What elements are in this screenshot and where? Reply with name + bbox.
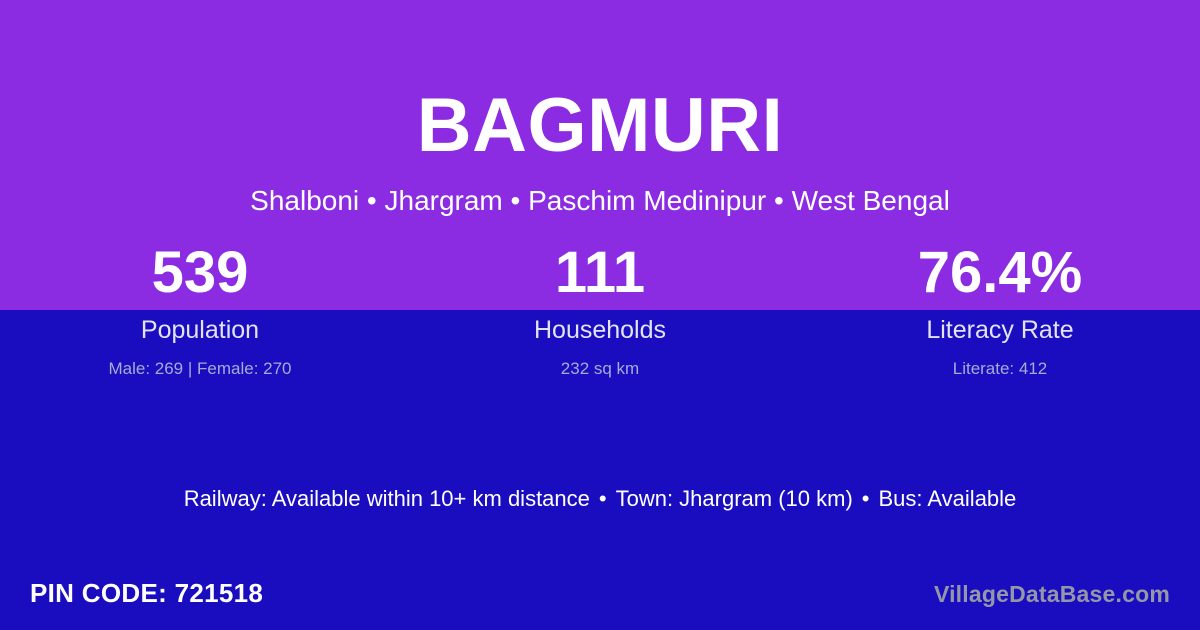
- pin-code: PIN CODE: 721518: [30, 578, 263, 609]
- facility-railway: Railway: Available within 10+ km distanc…: [184, 486, 590, 511]
- stats-row: 539 Population Male: 269 | Female: 270 1…: [0, 243, 1200, 379]
- facility-bus: Bus: Available: [878, 486, 1016, 511]
- site-brand: VillageDataBase.com: [934, 581, 1170, 609]
- village-info-card: BAGMURI Shalboni • Jhargram • Paschim Me…: [0, 0, 1200, 630]
- facility-separator-icon: •: [853, 486, 879, 512]
- card-header: BAGMURI Shalboni • Jhargram • Paschim Me…: [0, 0, 1200, 217]
- literacy-rate-value: 76.4%: [800, 243, 1200, 310]
- households-label: Households: [400, 310, 800, 345]
- population-label: Population: [0, 310, 400, 345]
- stat-literacy: 76.4% Literacy Rate Literate: 412: [800, 243, 1200, 379]
- population-value: 539: [0, 243, 400, 310]
- literacy-rate-label: Literacy Rate: [800, 310, 1200, 345]
- facility-town: Town: Jhargram (10 km): [616, 486, 853, 511]
- stat-households: 111 Households 232 sq km: [400, 243, 800, 379]
- population-breakdown: Male: 269 | Female: 270: [0, 345, 400, 379]
- area-value: 232 sq km: [400, 345, 800, 379]
- literate-count: Literate: 412: [800, 345, 1200, 379]
- stat-population: 539 Population Male: 269 | Female: 270: [0, 243, 400, 379]
- card-footer: PIN CODE: 721518 VillageDataBase.com: [0, 575, 1200, 630]
- breadcrumb: Shalboni • Jhargram • Paschim Medinipur …: [0, 164, 1200, 217]
- facilities-line: Railway: Available within 10+ km distanc…: [0, 486, 1200, 512]
- facility-separator-icon: •: [590, 486, 616, 512]
- page-title: BAGMURI: [0, 0, 1200, 164]
- households-value: 111: [400, 243, 800, 310]
